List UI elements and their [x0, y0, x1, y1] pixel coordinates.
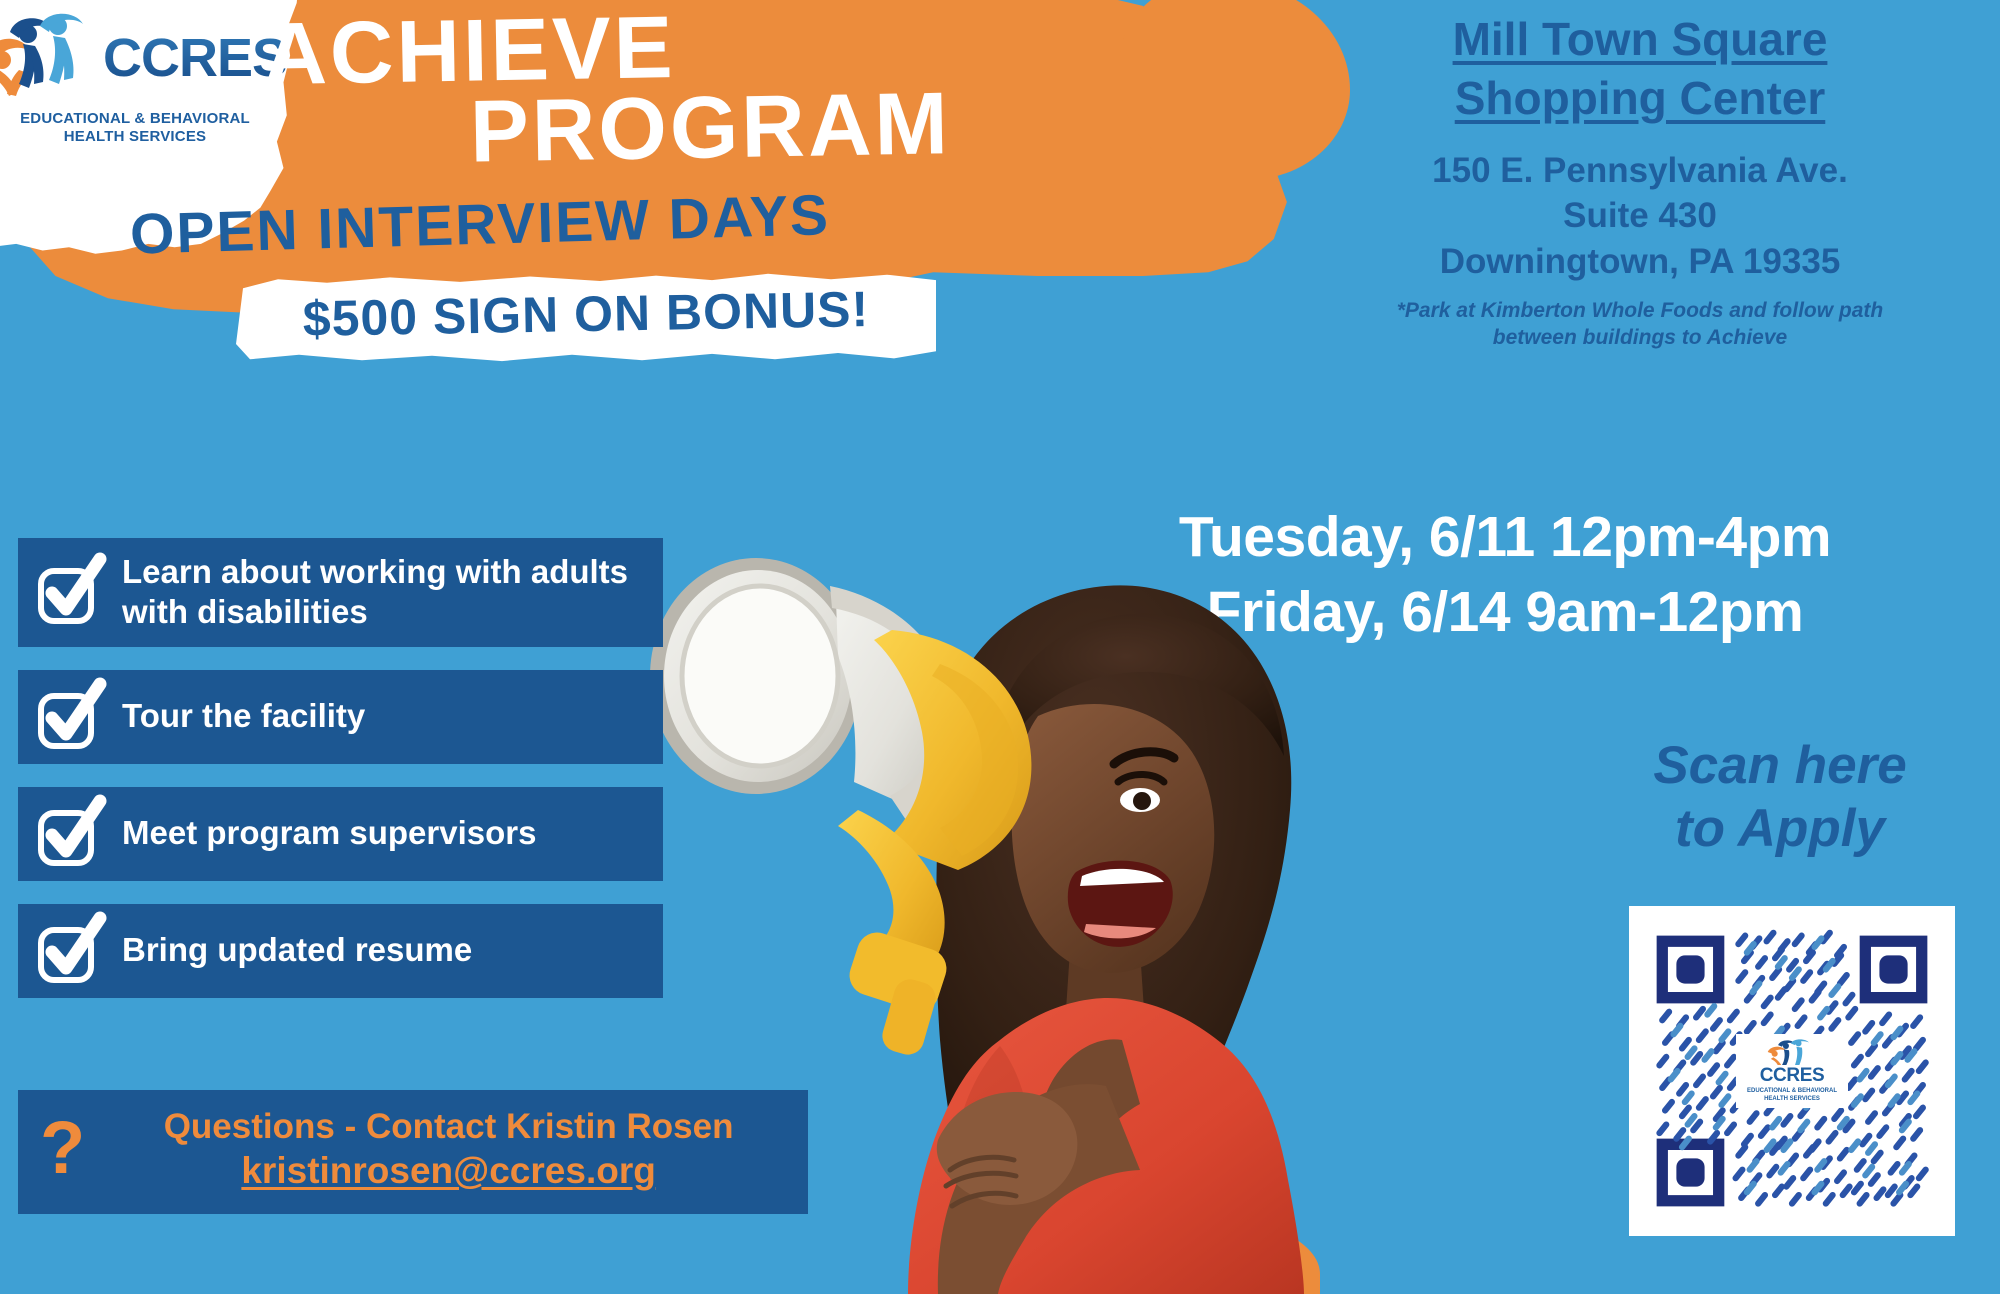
- parking-note: *Park at Kimberton Whole Foods and follo…: [1290, 298, 1990, 351]
- parking-note-line-2: between buildings to Achieve: [1290, 325, 1990, 351]
- list-item-label: Tour the facility: [122, 696, 365, 736]
- checklist: Learn about working with adults with dis…: [18, 538, 658, 1021]
- qr-logo-tagline-1: EDUCATIONAL & BEHAVIORAL: [1747, 1088, 1837, 1094]
- contact-email-link[interactable]: kristinrosen@ccres.org: [241, 1150, 655, 1191]
- qr-center-logo: CCRES EDUCATIONAL & BEHAVIORAL HEALTH SE…: [1736, 1034, 1848, 1108]
- qr-logo-tagline: EDUCATIONAL & BEHAVIORAL HEALTH SERVICES: [1747, 1088, 1837, 1103]
- list-item: Tour the facility: [18, 670, 663, 764]
- qr-caption-line-2: to Apply: [1560, 798, 2000, 861]
- venue-name: Mill Town Square Shopping Center: [1290, 10, 1990, 128]
- questions-text: Questions - Contact Kristin Rosen kristi…: [109, 1106, 788, 1194]
- qr-caption-line-1: Scan here: [1560, 735, 2000, 798]
- address-street: 150 E. Pennsylvania Ave.: [1290, 148, 1990, 194]
- question-mark-icon: ?: [40, 1117, 85, 1180]
- qr-code-icon[interactable]: CCRES EDUCATIONAL & BEHAVIORAL HEALTH SE…: [1651, 928, 1933, 1214]
- ccres-people-logo-icon: [0, 12, 101, 103]
- qr-logo-tagline-2: HEALTH SERVICES: [1764, 1096, 1820, 1102]
- checkbox-checked-icon: [36, 559, 102, 625]
- checkbox-checked-icon: [36, 684, 102, 750]
- ccres-tagline: EDUCATIONAL & BEHAVIORAL HEALTH SERVICES: [20, 110, 250, 145]
- ccres-logo: CCRES EDUCATIONAL & BEHAVIORAL HEALTH SE…: [20, 12, 250, 152]
- list-item: Learn about working with adults with dis…: [18, 538, 663, 647]
- qr-caption: Scan here to Apply: [1560, 735, 2000, 860]
- ccres-tagline-line2: HEALTH SERVICES: [20, 128, 250, 146]
- list-item: Meet program supervisors: [18, 787, 663, 881]
- list-item-label: Bring updated resume: [122, 930, 472, 970]
- page-title: ACHIEVE PROGRAM: [249, 2, 992, 177]
- checkbox-checked-icon: [36, 918, 102, 984]
- qr-logo-wordmark: CCRES: [1760, 1066, 1825, 1085]
- questions-contact-box: ? Questions - Contact Kristin Rosen kris…: [18, 1090, 808, 1214]
- qr-code-card[interactable]: CCRES EDUCATIONAL & BEHAVIORAL HEALTH SE…: [1629, 906, 1955, 1236]
- venue-line-1: Mill Town Square: [1290, 10, 1990, 69]
- sign-on-bonus-text: $500 SIGN ON BONUS!: [236, 279, 937, 349]
- parking-note-line-1: *Park at Kimberton Whole Foods and follo…: [1290, 298, 1990, 324]
- location-block: Mill Town Square Shopping Center 150 E. …: [1290, 10, 1990, 351]
- street-address: 150 E. Pennsylvania Ave. Suite 430 Downi…: [1290, 148, 1990, 285]
- questions-contact-line: Questions - Contact Kristin Rosen: [164, 1107, 734, 1146]
- venue-line-2: Shopping Center: [1290, 69, 1990, 128]
- address-suite: Suite 430: [1290, 193, 1990, 239]
- flyer-canvas: CCRES EDUCATIONAL & BEHAVIORAL HEALTH SE…: [0, 0, 2000, 1294]
- list-item-label: Learn about working with adults with dis…: [122, 552, 645, 633]
- list-item-label: Meet program supervisors: [122, 813, 536, 853]
- list-item: Bring updated resume: [18, 904, 663, 998]
- checkbox-checked-icon: [36, 801, 102, 867]
- ccres-tagline-line1: EDUCATIONAL & BEHAVIORAL: [20, 110, 250, 128]
- address-city-state-zip: Downingtown, PA 19335: [1290, 239, 1990, 285]
